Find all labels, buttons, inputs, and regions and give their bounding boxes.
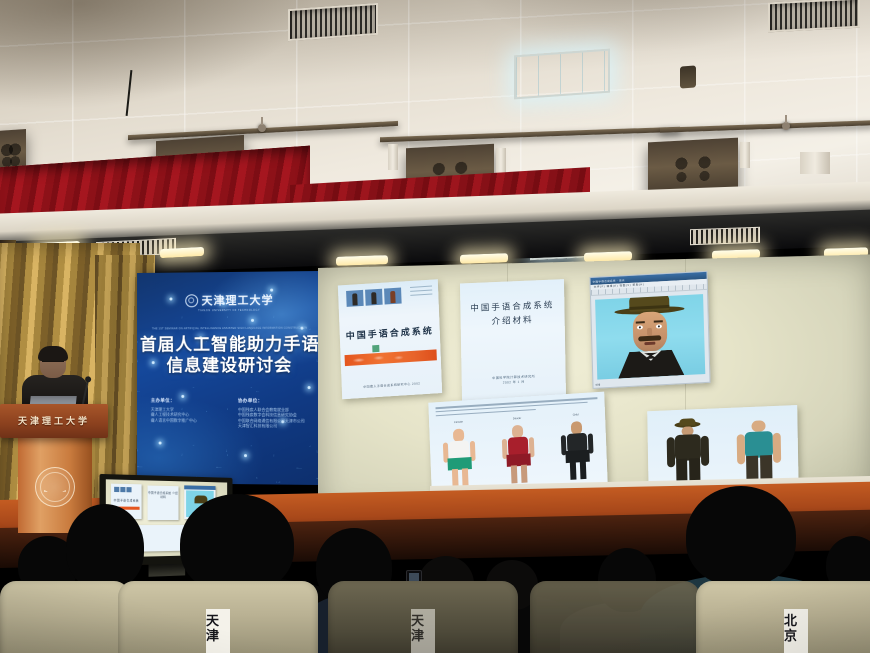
- organizer-column: 主办单位： 天津理工大学聋人工程技术研究中心聋人语言中国数字推广中心: [151, 398, 224, 429]
- hvac-vent-icon: [288, 3, 378, 41]
- smoke-detector-icon: [680, 65, 696, 88]
- university-name-cn: 天津理工大学: [202, 292, 274, 309]
- university-logo: 天津理工大学 TIANJIN UNIVERSITY OF TECHNOLOGY: [137, 291, 323, 312]
- document-title: 中国手语合成系统 介绍材料: [460, 297, 564, 329]
- book-cover-publisher: 中国聋人手语合成系统研究中心 2002: [342, 380, 442, 390]
- auditorium-seat[interactable]: [530, 581, 700, 653]
- seat-name-card: 北京: [784, 609, 808, 653]
- glasses-icon: [42, 361, 64, 366]
- seat-card-char: 北京: [784, 613, 808, 643]
- avatar-mouth: [644, 342, 655, 346]
- auditorium-seat[interactable]: 天津: [118, 581, 318, 653]
- book-cover-thumbnails: [346, 288, 402, 307]
- figure-caption: Child: [556, 412, 596, 418]
- book-cover-text-lines: [410, 286, 432, 299]
- banner-organizer-block: 主办单位： 天津理工大学聋人工程技术研究中心聋人语言中国数字推广中心 协办单位：…: [151, 398, 313, 429]
- speaker-bracket: [740, 142, 750, 168]
- soffit-downlight: [460, 253, 508, 264]
- speaker-bracket: [388, 144, 398, 170]
- slide-intro-document: 中国手语合成系统 介绍材料 中国科学院计算技术研究所 2002 年 1 月: [460, 279, 566, 403]
- seat-row: 天津 天津 北京: [0, 561, 870, 653]
- slide-book-cover: 中国手语合成系统 中国聋人手语合成系统研究中心 2002: [338, 279, 442, 399]
- window-statusbar: 就绪: [595, 383, 600, 387]
- auditorium-seat[interactable]: 北京: [696, 581, 870, 653]
- document-publisher: 中国科学院计算技术研究所 2002 年 1 月: [462, 373, 566, 387]
- hatted-male-avatar-face: [612, 294, 688, 379]
- book-cover-mark: [372, 345, 379, 352]
- book-cover-title: 中国手语合成系统: [340, 323, 440, 342]
- supporter-list: 中国残疾人联合会教育就业部中国残疾数字会科技信息研究协会中国联合网络通信有限公司…: [238, 407, 313, 429]
- conference-hall-photo: 天津理工大学 TIANJIN UNIVERSITY OF TECHNOLOGY …: [0, 0, 870, 653]
- hvac-vent-icon: [768, 0, 860, 32]
- speaker-bracket: [800, 152, 830, 174]
- sprinkler-head-icon: [782, 122, 790, 130]
- lectern-university-label: 天津理工大学: [0, 414, 108, 427]
- figure-caption: Female: [438, 420, 478, 426]
- soffit-vent-icon: [690, 227, 760, 245]
- seat-name-card: 天津: [411, 609, 435, 653]
- ceiling-panel-light: [514, 49, 610, 100]
- banner-title-line2: 信息建设研讨会: [137, 355, 323, 376]
- figure-caption: Dancer: [497, 416, 537, 422]
- sprinkler-head-icon: [258, 124, 266, 132]
- banner-title: 首届人工智能助力手语 信息建设研讨会: [137, 334, 323, 376]
- audience: 天津 天津 北京: [0, 452, 870, 653]
- banner-title-line1: 首届人工智能助力手语: [137, 334, 323, 356]
- auditorium-seat[interactable]: 天津: [328, 581, 518, 653]
- organizer-heading: 主办单位：: [151, 398, 224, 404]
- book-cover-red-band: [345, 349, 437, 366]
- soffit-downlight: [336, 255, 388, 266]
- seat-name-card: 天津: [206, 609, 230, 653]
- auditorium-seat[interactable]: [0, 581, 130, 653]
- seat-card-char: 天津: [411, 613, 435, 643]
- supporter-column: 协办单位： 中国残疾人联合会教育就业部中国残疾数字会科技信息研究协会中国联合网络…: [238, 398, 313, 429]
- university-seal-icon: [185, 294, 198, 307]
- presenter-hair: [38, 346, 68, 361]
- avatar-render-canvas: [595, 294, 705, 380]
- organizer-list: 天津理工大学聋人工程技术研究中心聋人语言中国数字推广中心: [151, 407, 224, 423]
- seat-card-char: 天津: [206, 613, 230, 643]
- hat-crown: [679, 418, 695, 426]
- speaker-bracket: [496, 148, 506, 174]
- avatar-head: [751, 420, 765, 432]
- slide-avatar-window: 中国手语合成系统 - 演示 文件(F) 编辑(E) 视图(V) 帮助(H): [589, 271, 710, 389]
- supporter-heading: 协办单位：: [238, 398, 313, 404]
- lectern-top: 天津理工大学: [0, 404, 108, 438]
